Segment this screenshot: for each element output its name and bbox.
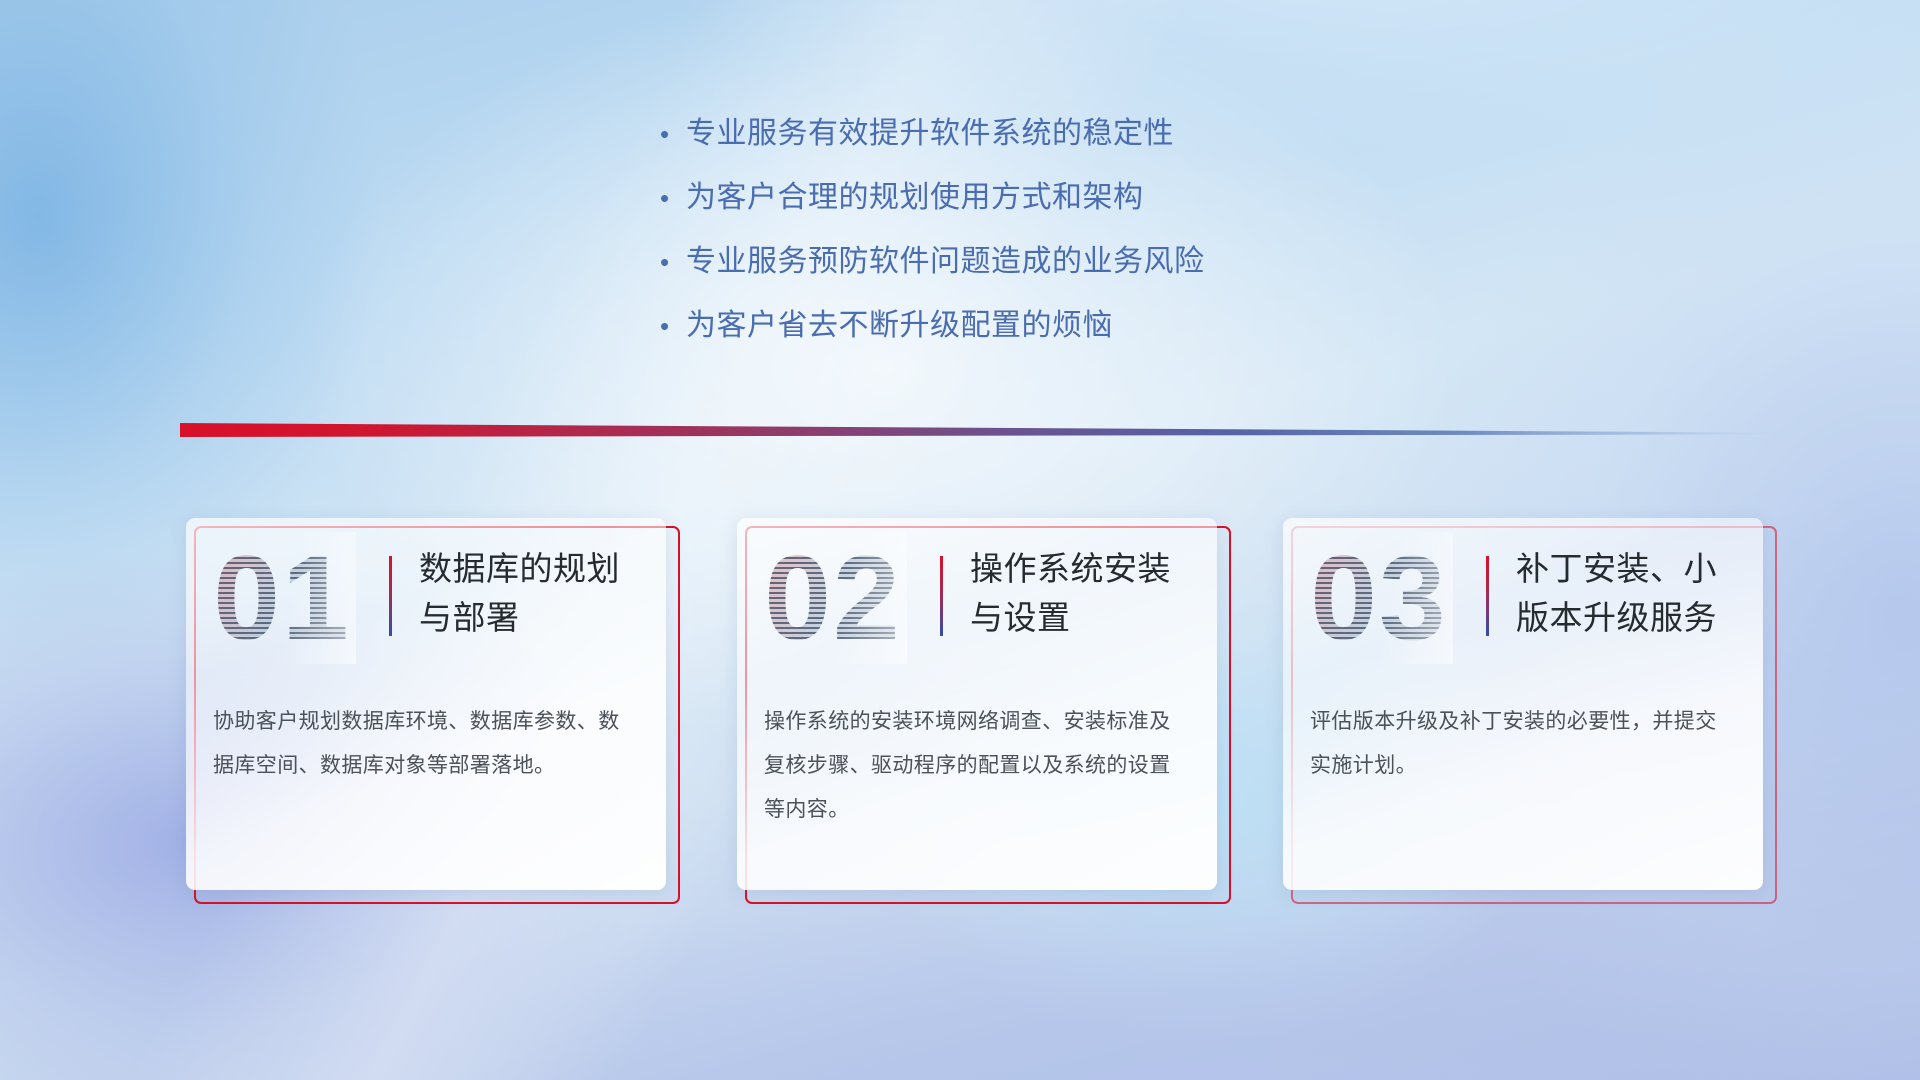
bullet-dot-icon: • xyxy=(660,249,686,275)
card-header: 01 数据库的规划与部署 xyxy=(186,518,666,686)
card-surface: 02 操作系统安装与设置 操作系统的安装环境网络调查、安装标准及复核步骤、驱动程… xyxy=(737,518,1217,890)
card-surface: 03 补丁安装、小版本升级服务 评估版本升级及补丁安装的必要性，并提交实施计划。 xyxy=(1283,518,1763,890)
card-body-text: 协助客户规划数据库环境、数据库参数、数据库空间、数据库对象等部署落地。 xyxy=(213,700,637,788)
list-item: • 为客户合理的规划使用方式和架构 xyxy=(660,172,1420,236)
benefits-bullet-list: • 专业服务有效提升软件系统的稳定性 • 为客户合理的规划使用方式和架构 • 专… xyxy=(660,108,1420,364)
bullet-dot-icon: • xyxy=(660,185,686,211)
list-item: • 专业服务有效提升软件系统的稳定性 xyxy=(660,108,1420,172)
slide-canvas: • 专业服务有效提升软件系统的稳定性 • 为客户合理的规划使用方式和架构 • 专… xyxy=(0,0,1920,1080)
card-header: 02 操作系统安装与设置 xyxy=(737,518,1217,686)
bullet-dot-icon: • xyxy=(660,313,686,339)
card-number-watermark: 01 xyxy=(208,532,356,664)
section-divider xyxy=(180,420,1780,446)
divider-shape-icon xyxy=(180,420,1780,446)
card-body-text: 评估版本升级及补丁安装的必要性，并提交实施计划。 xyxy=(1310,700,1734,788)
list-item: • 为客户省去不断升级配置的烦恼 xyxy=(660,300,1420,364)
bullet-text: 专业服务预防软件问题造成的业务风险 xyxy=(686,236,1205,280)
bullet-text: 为客户省去不断升级配置的烦恼 xyxy=(686,300,1113,344)
service-card-03[interactable]: 03 补丁安装、小版本升级服务 评估版本升级及补丁安装的必要性，并提交实施计划。 xyxy=(1283,518,1777,904)
card-number-watermark: 02 xyxy=(759,532,907,664)
card-title-rule xyxy=(389,556,392,636)
card-title: 补丁安装、小版本升级服务 xyxy=(1516,544,1746,642)
card-number-watermark: 03 xyxy=(1305,532,1453,664)
card-title-rule xyxy=(1486,556,1489,636)
bullet-text: 为客户合理的规划使用方式和架构 xyxy=(686,172,1144,216)
list-item: • 专业服务预防软件问题造成的业务风险 xyxy=(660,236,1420,300)
service-card-01[interactable]: 01 数据库的规划与部署 协助客户规划数据库环境、数据库参数、数据库空间、数据库… xyxy=(186,518,680,904)
service-card-02[interactable]: 02 操作系统安装与设置 操作系统的安装环境网络调查、安装标准及复核步骤、驱动程… xyxy=(737,518,1231,904)
bullet-dot-icon: • xyxy=(660,121,686,147)
bullet-text: 专业服务有效提升软件系统的稳定性 xyxy=(686,108,1174,152)
card-title: 操作系统安装与设置 xyxy=(970,544,1200,642)
card-header: 03 补丁安装、小版本升级服务 xyxy=(1283,518,1763,686)
card-title-rule xyxy=(940,556,943,636)
card-surface: 01 数据库的规划与部署 协助客户规划数据库环境、数据库参数、数据库空间、数据库… xyxy=(186,518,666,890)
card-title: 数据库的规划与部署 xyxy=(419,544,649,642)
service-card-group: 01 数据库的规划与部署 协助客户规划数据库环境、数据库参数、数据库空间、数据库… xyxy=(0,518,1920,918)
card-body-text: 操作系统的安装环境网络调查、安装标准及复核步骤、驱动程序的配置以及系统的设置等内… xyxy=(764,700,1188,832)
